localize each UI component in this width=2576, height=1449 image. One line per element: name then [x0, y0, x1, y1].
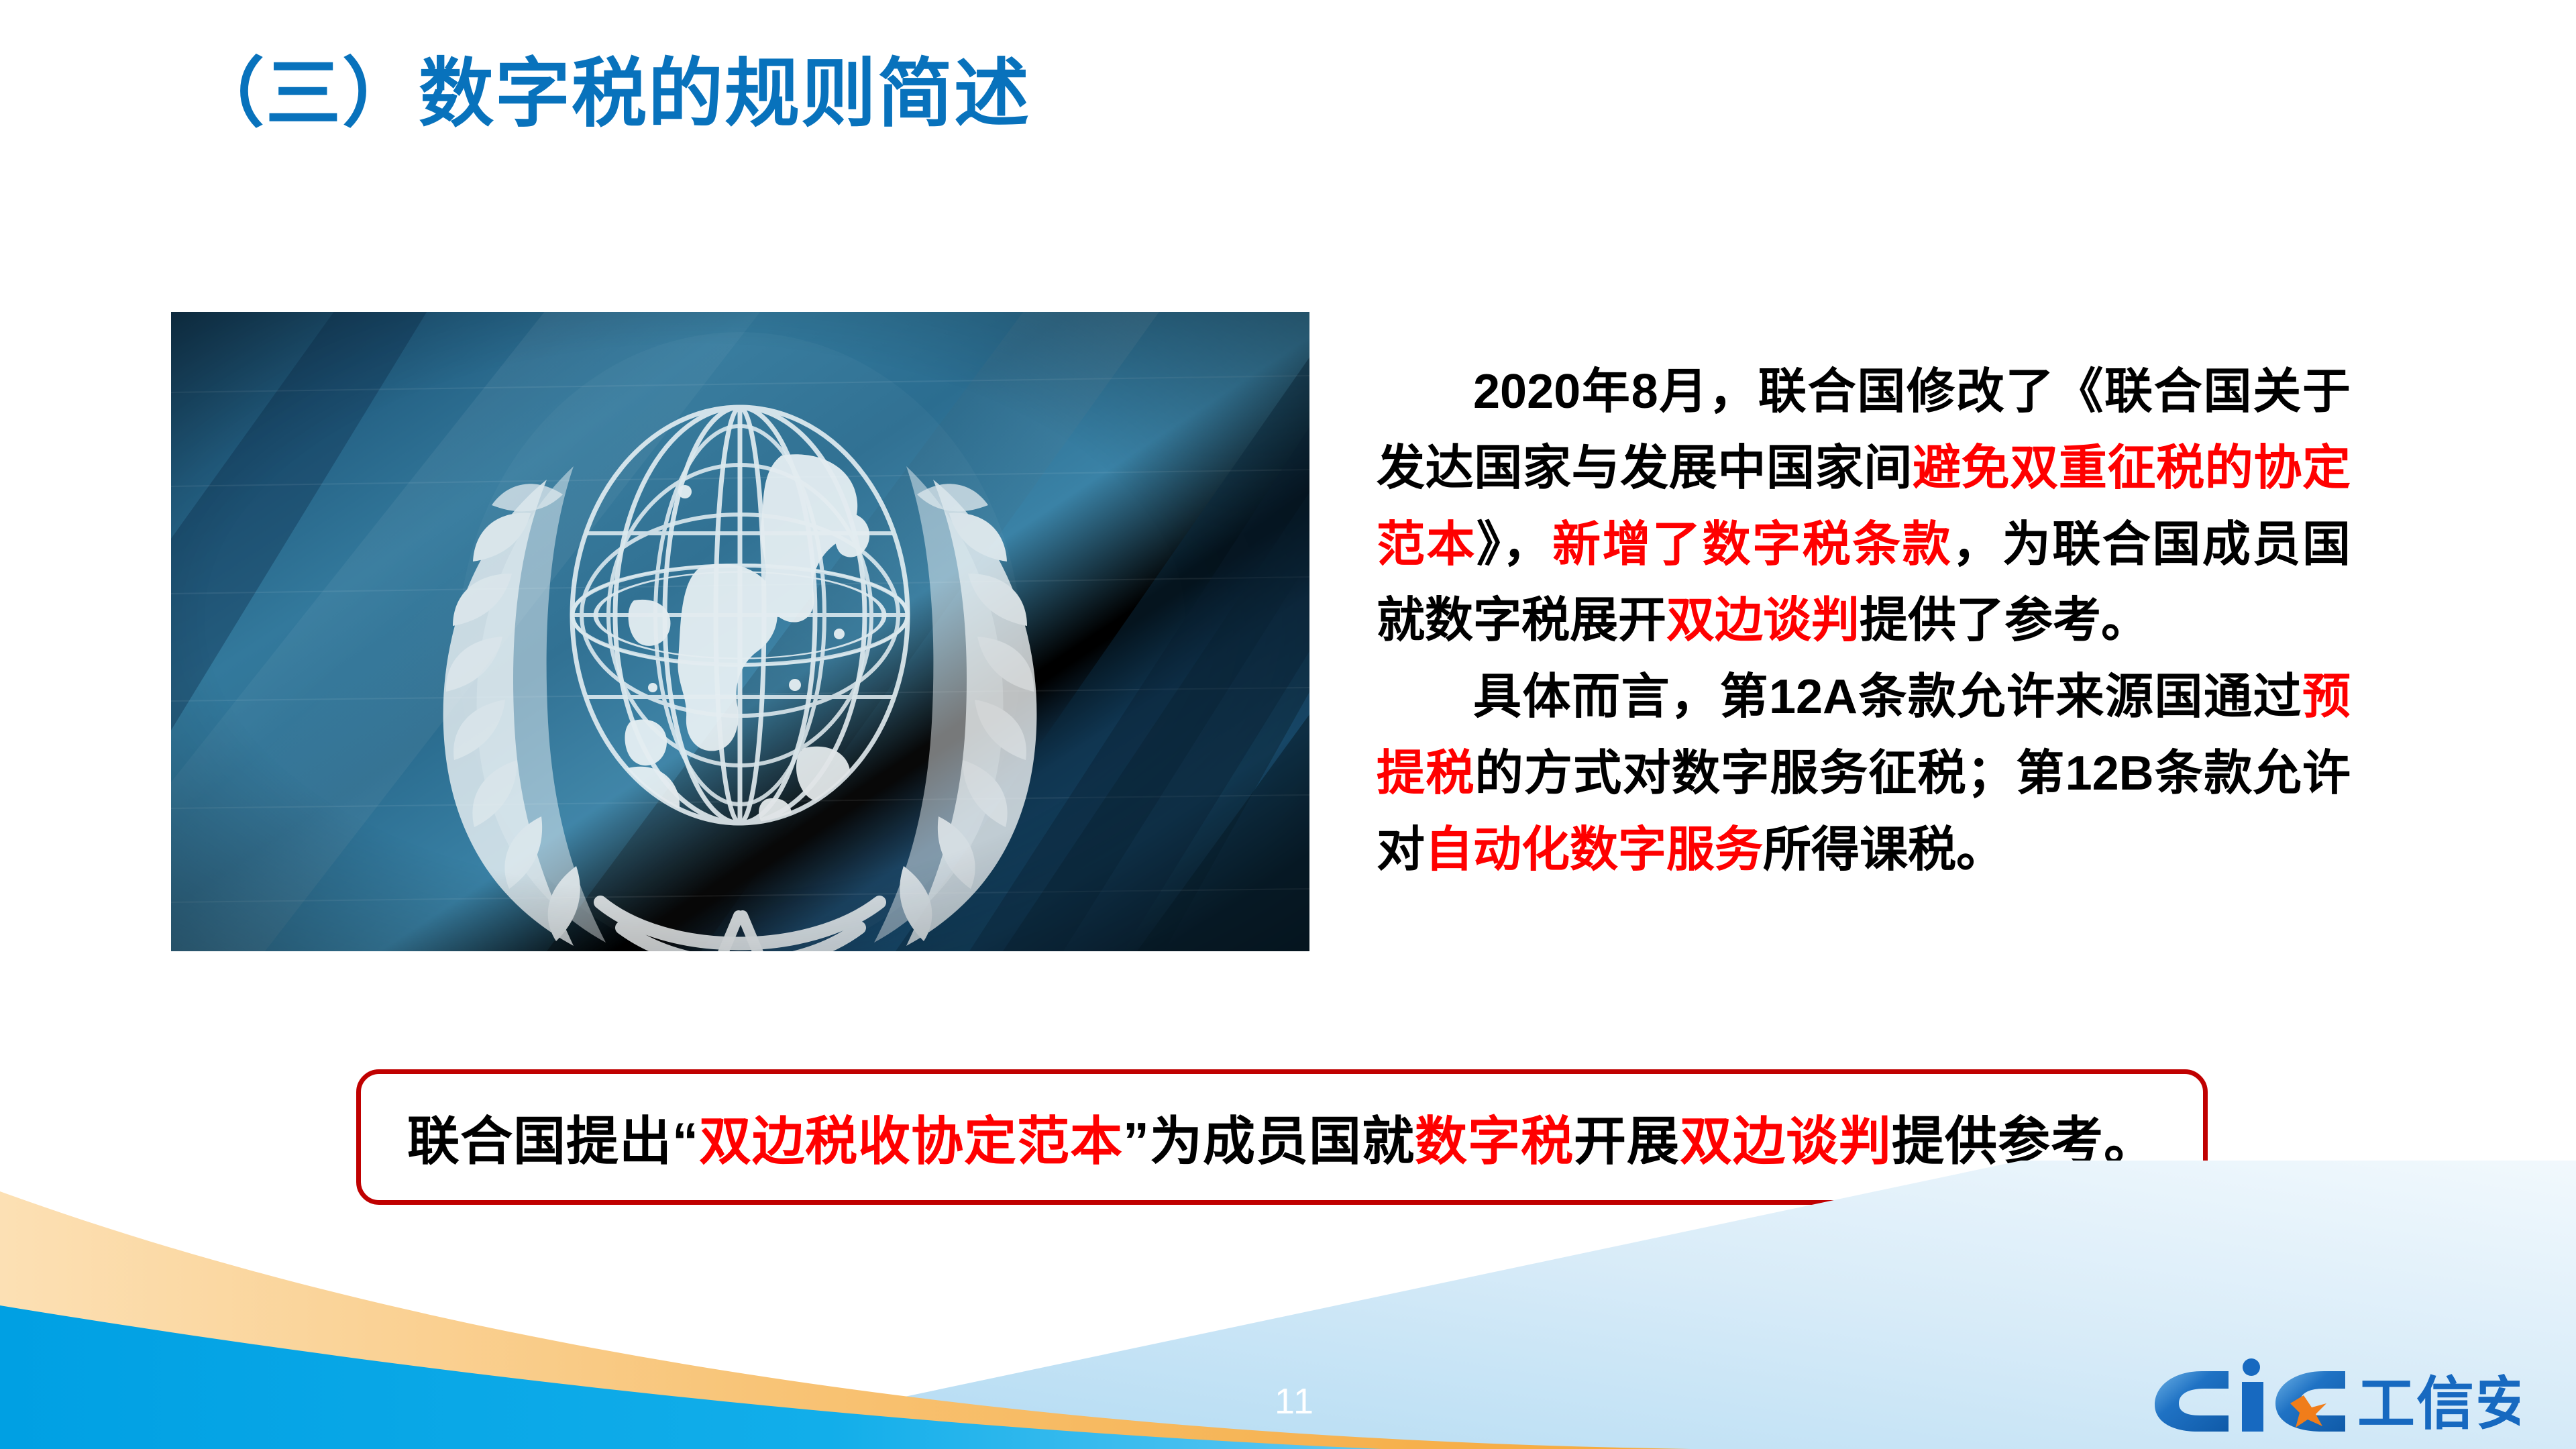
paragraph-1: 2020年8月，联合国修改了《联合国关于发达国家与发展中国家间避免双重征税的协定…	[1377, 354, 2351, 659]
paragraph-2: 具体而言，第12A条款允许来源国通过预提税的方式对数字服务征税；第12B条款允许…	[1377, 659, 2351, 888]
rich-text-1: 2020年8月，联合国修改了《联合国关于发达国家与发展中国家间避免双重征税的协定…	[1377, 365, 2351, 647]
logo-text: 工信安全	[2357, 1372, 2520, 1436]
plain-text: 具体而言，第12A条款允许来源国通过	[1473, 670, 2302, 724]
presentation-slide: （三）数字税的规则简述	[0, 0, 2576, 1449]
rich-text-2: 具体而言，第12A条款允许来源国通过预提税的方式对数字服务征税；第12B条款允许…	[1377, 670, 2351, 877]
logo-letter-i-dot	[2243, 1358, 2260, 1376]
body-text-block: 2020年8月，联合国修改了《联合国关于发达国家与发展中国家间避免双重征税的协定…	[1377, 354, 2351, 888]
united-nations-flag-image	[171, 312, 1309, 951]
plain-text: 提供了参考。	[1860, 594, 2149, 647]
plain-text: 》，	[1477, 518, 1552, 572]
logo-letter-i	[2242, 1382, 2263, 1432]
highlighted-text: 新增了数字税条款	[1552, 518, 1952, 572]
brand-logo: 工信安全	[2144, 1356, 2520, 1436]
plain-text: 所得课税。	[1763, 823, 2004, 877]
highlighted-text: 自动化数字服务	[1425, 823, 1763, 877]
highlighted-text: 双边谈判	[1666, 594, 1860, 647]
logo-letter-c	[2155, 1371, 2229, 1432]
logo-letter-c2	[2275, 1371, 2345, 1432]
page-title: （三）数字税的规则简述	[189, 52, 1030, 135]
page-number: 11	[1248, 1381, 1342, 1422]
